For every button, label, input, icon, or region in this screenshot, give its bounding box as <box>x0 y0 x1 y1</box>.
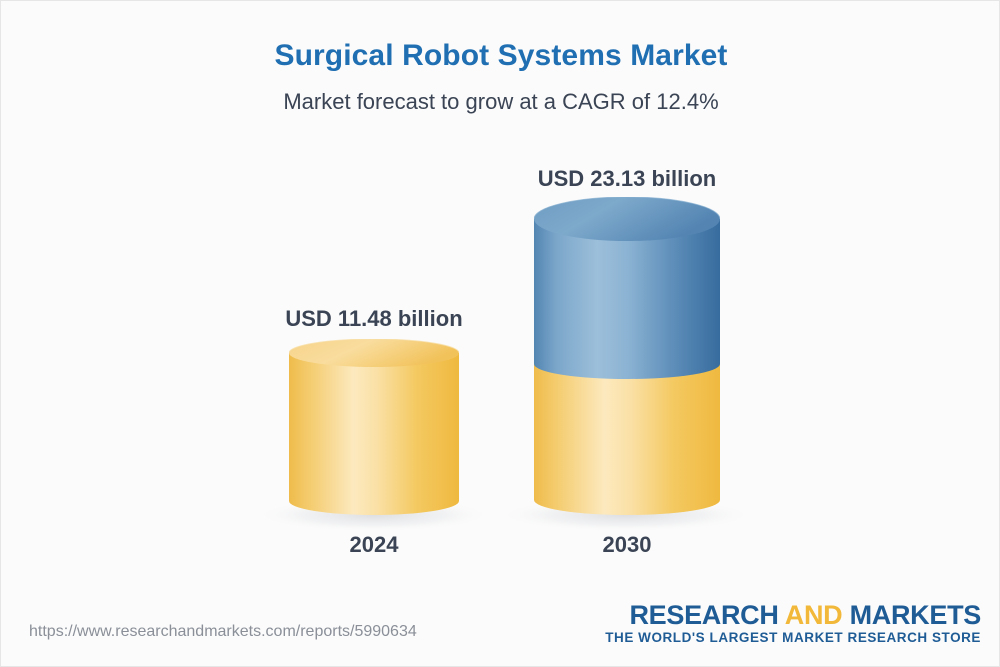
logo-word-markets: MARKETS <box>842 600 981 630</box>
value-label-2024: USD 11.48 billion <box>214 306 534 332</box>
logo-wordmark: RESEARCH AND MARKETS <box>605 601 981 629</box>
value-label-2030: USD 23.13 billion <box>467 166 787 192</box>
chart-canvas: Surgical Robot Systems Market Market for… <box>0 0 1000 667</box>
logo-word-and: AND <box>785 600 843 630</box>
logo-word-research: RESEARCH <box>629 600 784 630</box>
category-label-2030: 2030 <box>467 532 787 558</box>
bar-cylinder-2024 <box>289 339 459 529</box>
source-url[interactable]: https://www.researchandmarkets.com/repor… <box>29 623 417 641</box>
logo-tagline: THE WORLD'S LARGEST MARKET RESEARCH STOR… <box>605 630 981 646</box>
research-and-markets-logo: RESEARCH AND MARKETS THE WORLD'S LARGEST… <box>605 601 981 647</box>
bar-cylinder-2030 <box>534 197 720 529</box>
cylinder-shadows <box>1 1 1000 667</box>
plot-area: USD 11.48 billion USD 23.13 billion 2024… <box>1 1 1000 667</box>
